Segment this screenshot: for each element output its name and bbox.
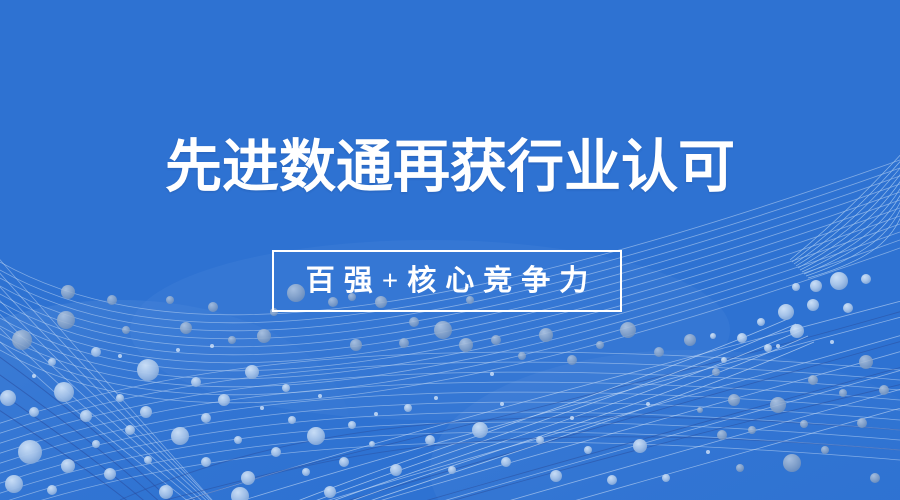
banner-content: 先进数通再获行业认可 百强+核心竞争力 [0,0,900,500]
subtitle-text: 百强+核心竞争力 [297,267,598,296]
promo-banner: 先进数通再获行业认可 百强+核心竞争力 [0,0,900,500]
page-title: 先进数通再获行业认可 [0,138,900,198]
subtitle-badge: 百强+核心竞争力 [272,250,622,312]
